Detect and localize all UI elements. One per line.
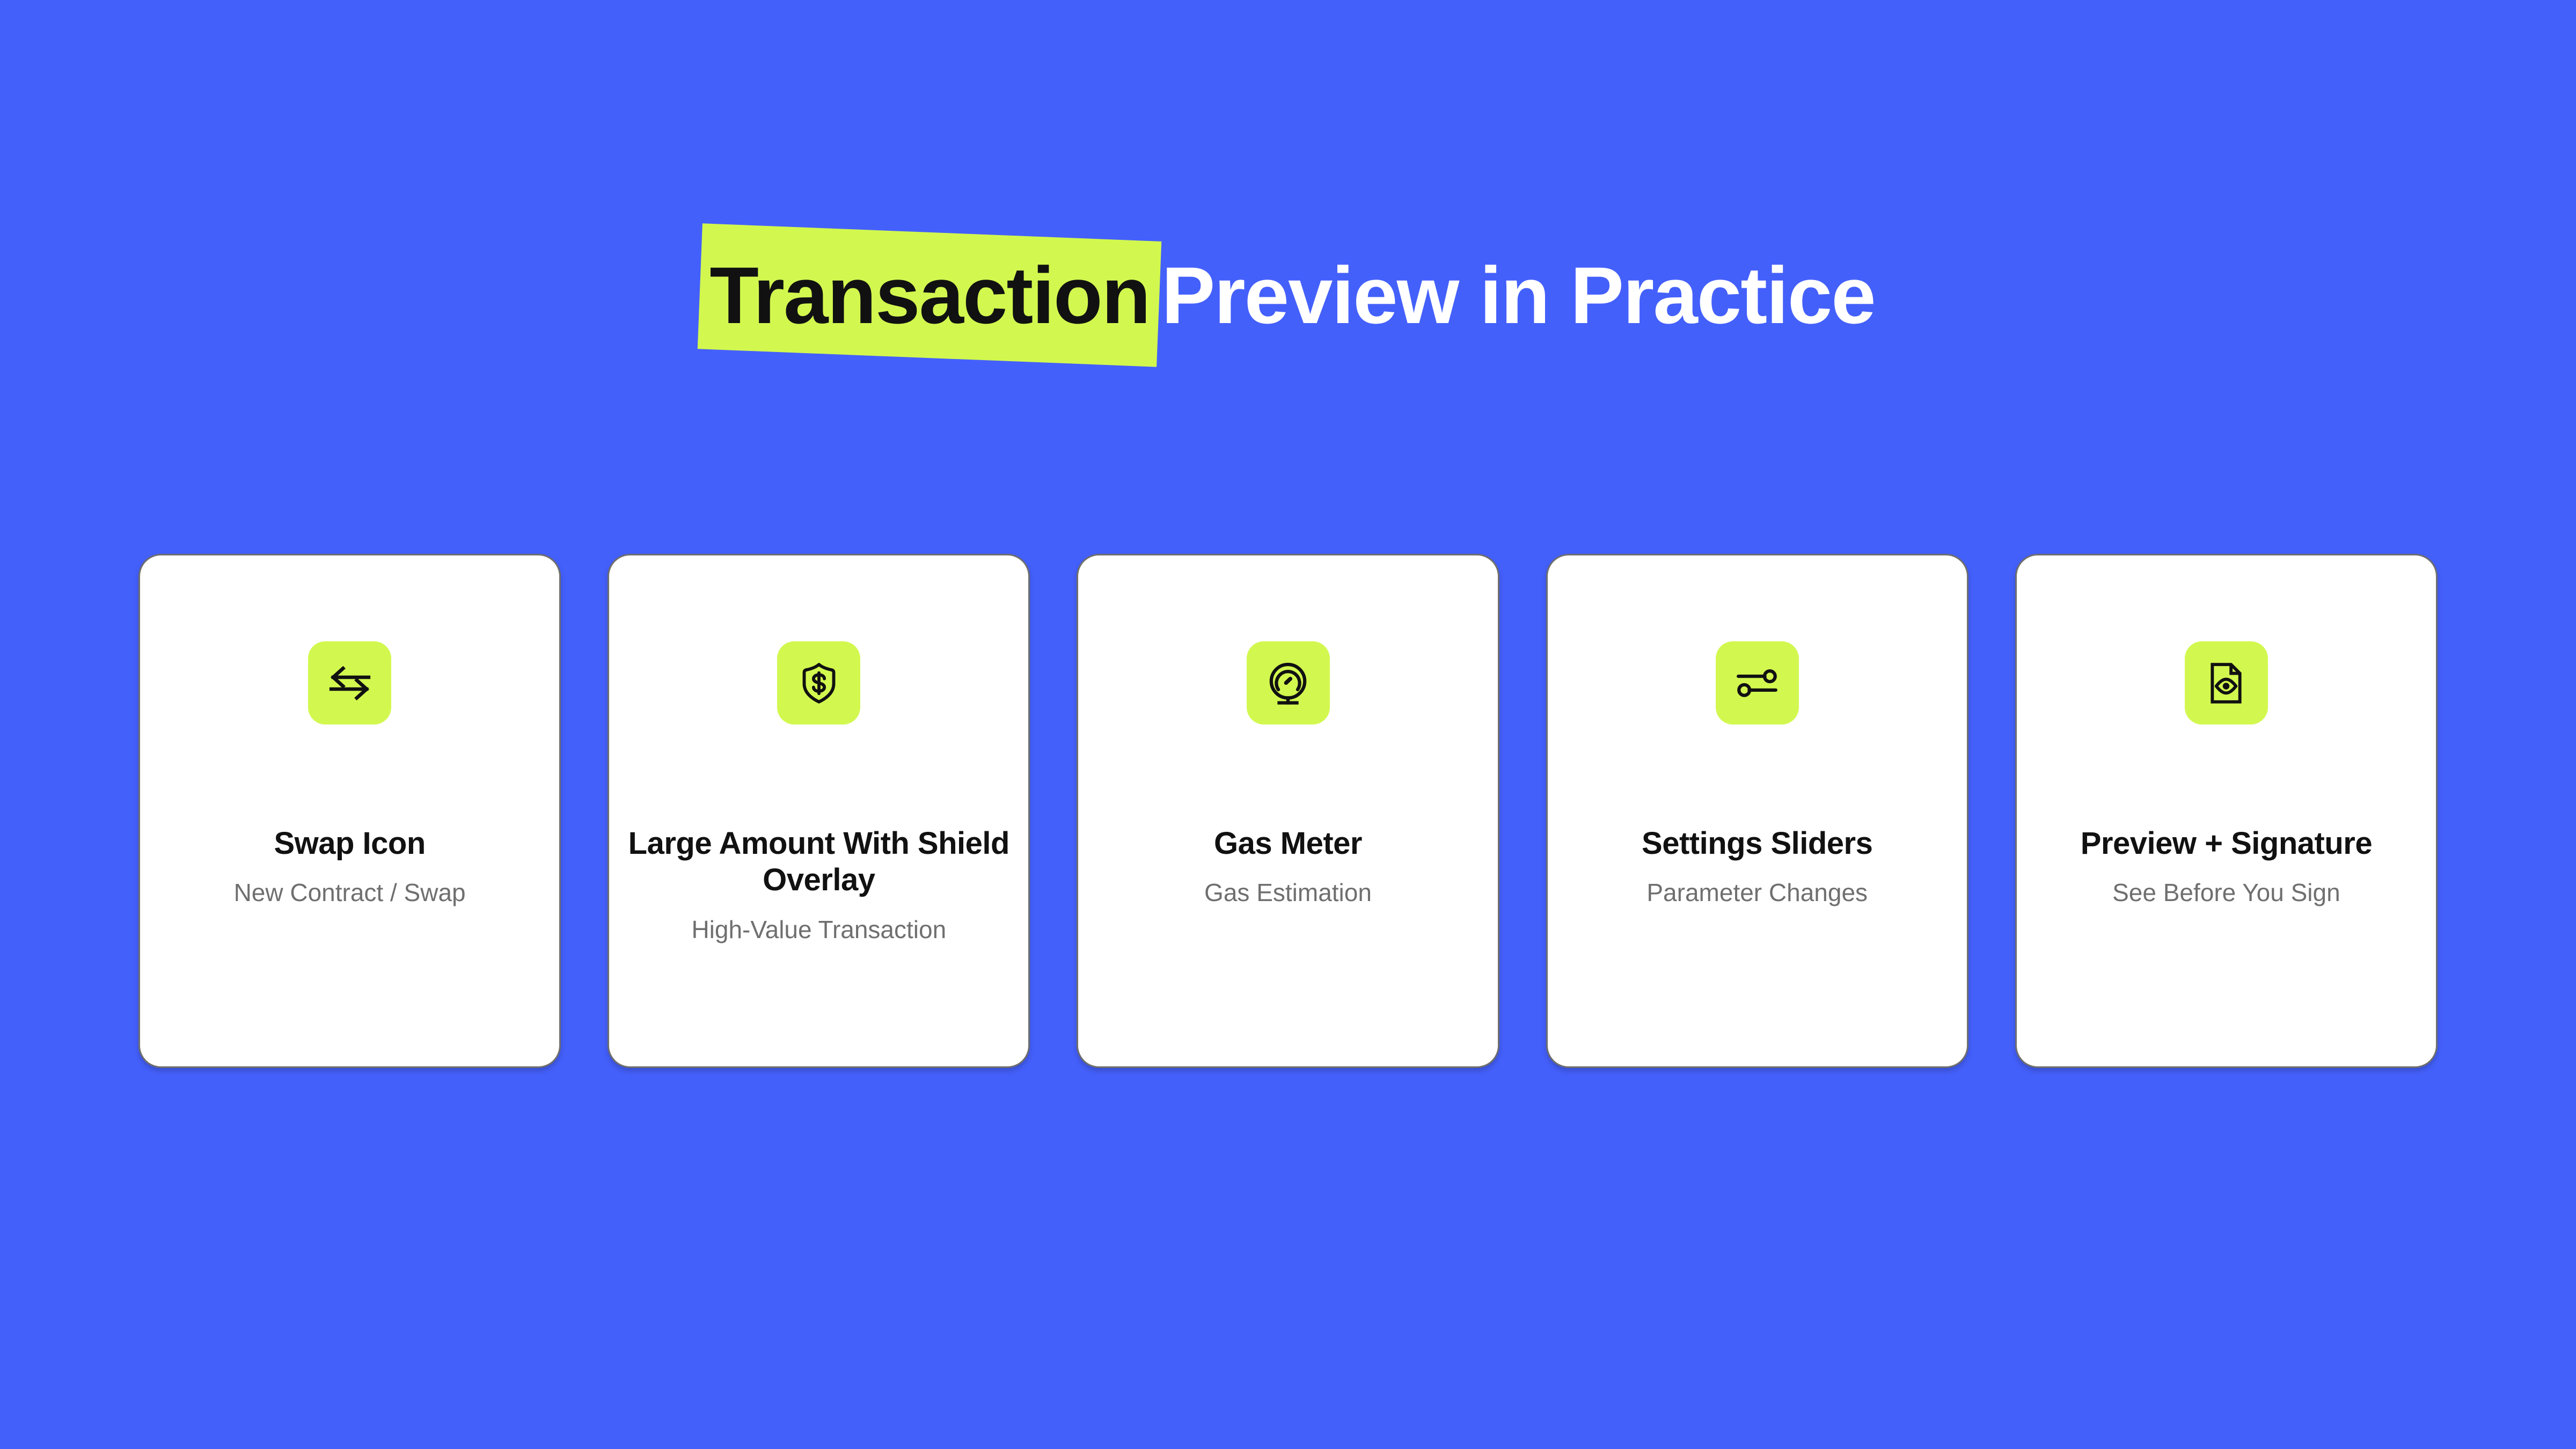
feature-card-large-amount-shield[interactable]: Large Amount With Shield Overlay High-Va…	[608, 554, 1030, 1068]
icon-tile	[308, 641, 391, 724]
card-subtitle: High-Value Transaction	[679, 915, 958, 945]
icon-tile	[777, 641, 860, 724]
card-subtitle: New Contract / Swap	[222, 878, 478, 908]
settings-sliders-icon	[1733, 660, 1781, 707]
feature-card-swap-icon[interactable]: Swap Icon New Contract / Swap	[138, 554, 561, 1068]
page-title: TransactionPreview in Practice	[701, 255, 1875, 335]
feature-card-preview-signature[interactable]: Preview + Signature See Before You Sign	[2015, 554, 2438, 1068]
feature-card-gas-meter[interactable]: Gas Meter Gas Estimation	[1077, 554, 1499, 1068]
swap-arrows-icon	[326, 660, 374, 707]
page-title-rest: Preview in Practice	[1161, 255, 1875, 335]
card-title: Large Amount With Shield Overlay	[609, 825, 1028, 899]
gas-meter-gauge-icon	[1264, 660, 1312, 707]
card-subtitle: See Before You Sign	[2101, 878, 2352, 908]
feature-card-row: Swap Icon New Contract / Swap Large Amou…	[138, 554, 2438, 1068]
card-title: Gas Meter	[1199, 825, 1377, 862]
card-title: Preview + Signature	[2066, 825, 2387, 862]
card-title: Settings Sliders	[1627, 825, 1887, 862]
feature-card-settings-sliders[interactable]: Settings Sliders Parameter Changes	[1546, 554, 1968, 1068]
card-subtitle: Parameter Changes	[1635, 878, 1879, 908]
icon-tile	[1716, 641, 1799, 724]
shield-dollar-icon	[795, 660, 843, 707]
page-title-highlight: Transaction	[701, 255, 1157, 335]
icon-tile	[1247, 641, 1330, 724]
document-eye-icon	[2202, 660, 2250, 707]
card-title: Swap Icon	[259, 825, 440, 862]
icon-tile	[2185, 641, 2268, 724]
page-title-area: TransactionPreview in Practice	[0, 215, 2576, 376]
card-subtitle: Gas Estimation	[1192, 878, 1384, 908]
